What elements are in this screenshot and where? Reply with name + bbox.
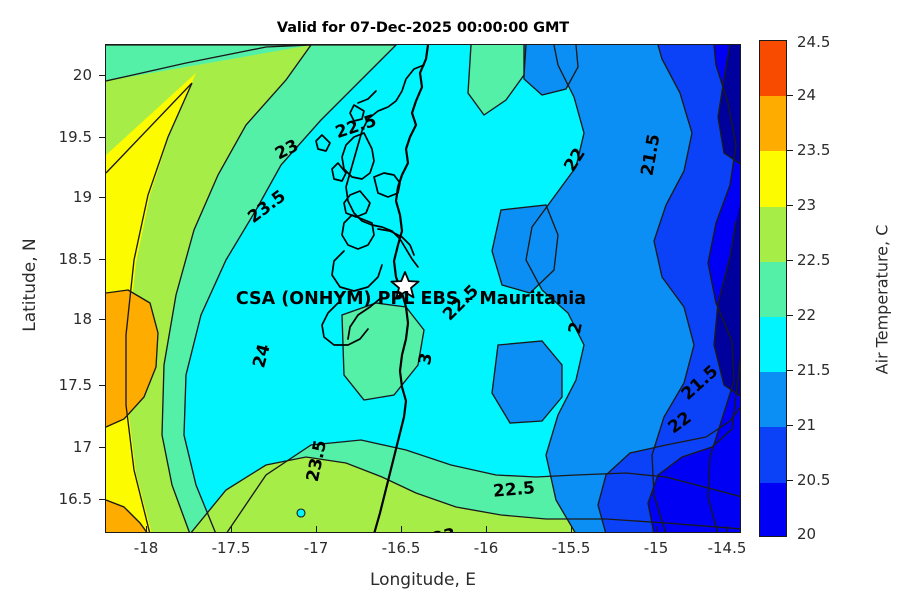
x-tick-label: -17.5: [212, 539, 251, 557]
colorbar-band-20.5-21: [760, 427, 786, 482]
colorbar-tick: [787, 425, 793, 426]
colorbar-tick: [787, 260, 793, 261]
contour-label: 22.5: [492, 478, 536, 502]
station-label: CSA (ONHYM) PPL EBS – Mauritania: [236, 289, 586, 309]
colorbar-tick-label: 22.5: [797, 251, 830, 269]
y-tick-label: 16.5: [30, 490, 92, 508]
colorbar-tick-label: 24: [797, 86, 816, 104]
colorbar-tick: [787, 315, 793, 316]
y-tick-label: 17: [30, 438, 92, 456]
colorbar-band-22.5-23: [760, 207, 786, 262]
colorbar-tick-label: 21: [797, 416, 816, 434]
colorbar-band-23-23.5: [760, 151, 786, 206]
colorbar-tick-label: 20: [797, 525, 816, 543]
colorbar-tick: [787, 95, 793, 96]
colorbar-band-21.5-22: [760, 317, 786, 372]
x-tick: [727, 526, 728, 533]
y-tick: [99, 447, 106, 448]
y-tick-label: 19.5: [30, 128, 92, 146]
x-tick: [571, 526, 572, 533]
x-tick: [316, 526, 317, 533]
x-tick-label: -18: [134, 539, 159, 557]
colorbar-tick-label: 21.5: [797, 361, 830, 379]
colorbar-band-24-24.5: [760, 41, 786, 96]
colorbar-band-22-22.5: [760, 262, 786, 317]
x-tick-label: -14.5: [708, 539, 747, 557]
colorbar-title: Air Temperature, C: [873, 200, 892, 400]
x-tick: [231, 526, 232, 533]
colorbar-tick-label: 20.5: [797, 471, 830, 489]
page-title: Valid for 07-Dec-2025 00:00:00 GMT: [105, 20, 741, 36]
x-axis-title: Longitude, E: [105, 570, 741, 590]
colorbar-band-20.25-20.5: [760, 483, 786, 538]
x-tick-label: -17: [304, 539, 329, 557]
y-tick: [99, 319, 106, 320]
x-tick: [486, 526, 487, 533]
x-tick: [146, 526, 147, 533]
y-tick: [99, 259, 106, 260]
y-tick: [99, 75, 106, 76]
y-tick: [99, 385, 106, 386]
colorbar-band-23.5-24: [760, 96, 786, 151]
y-tick: [99, 137, 106, 138]
colorbar-tick: [787, 480, 793, 481]
colorbar-tick: [787, 150, 793, 151]
colorbar-tick: [787, 205, 793, 206]
x-tick-label: -15: [644, 539, 669, 557]
y-tick-label: 20: [30, 66, 92, 84]
colorbar-tick-label: 23: [797, 196, 816, 214]
colorbar-tick: [787, 370, 793, 371]
colorbar-band-21-21.5: [760, 372, 786, 427]
colorbar-tick-label: 24.5: [797, 33, 830, 51]
y-tick: [99, 197, 106, 198]
colorbar-tick-label: 22: [797, 306, 816, 324]
y-tick-label: 17.5: [30, 376, 92, 394]
x-tick-label: -16: [474, 539, 499, 557]
x-tick-label: -15.5: [552, 539, 591, 557]
x-tick-label: -16.5: [382, 539, 421, 557]
y-axis-title: Latitude, N: [20, 195, 40, 375]
contour-plot[interactable]: 22.5 23 23.5 22 21.5 21 21 20.5 22.5 3 2…: [105, 44, 741, 533]
colorbar[interactable]: [759, 40, 787, 537]
x-tick: [656, 526, 657, 533]
y-tick: [99, 499, 106, 500]
colorbar-tick-label: 23.5: [797, 141, 830, 159]
x-tick: [401, 526, 402, 533]
